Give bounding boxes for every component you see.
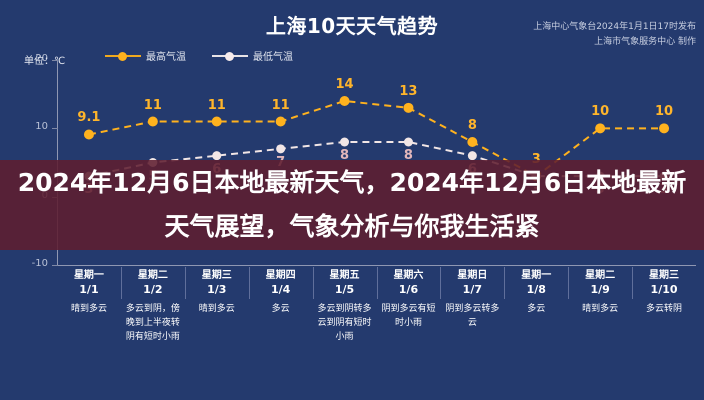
weather-description: 阴到多云有短时小雨 (377, 302, 441, 330)
weather-description: 多云 (249, 302, 313, 316)
forecast-day-column[interactable]: 星期三1/10多云转阴 (632, 265, 696, 400)
forecast-day-column[interactable]: 星期四1/4多云 (249, 265, 313, 400)
weekday-label: 星期六 (377, 269, 441, 282)
overlay-banner: 2024年12月6日本地最新天气，2024年12月6日本地最新天气展望，气象分析… (0, 160, 704, 250)
forecast-day-column[interactable]: 星期日1/7阴到多云转多云 (440, 265, 504, 400)
column-divider (632, 267, 633, 299)
weather-description: 多云转阴 (632, 302, 696, 316)
weekday-label: 星期五 (313, 269, 377, 282)
issuer-info: 上海中心气象台2024年1月1日17时发布 上海市气象服务中心 制作 (466, 20, 696, 50)
low-temp-point (212, 151, 221, 160)
y-axis-tick-label: 10 (20, 121, 48, 132)
legend: 最高气温 最低气温 (105, 48, 293, 63)
high-temp-point (659, 123, 669, 133)
column-divider (121, 267, 122, 299)
weekday-label: 星期二 (568, 269, 632, 282)
date-label: 1/1 (57, 282, 121, 297)
weekday-label: 星期三 (185, 269, 249, 282)
high-temp-point (340, 96, 350, 106)
circle-marker-icon (212, 51, 248, 61)
date-label: 1/2 (121, 282, 185, 297)
date-label: 1/9 (568, 282, 632, 297)
date-label: 1/4 (249, 282, 313, 297)
overlay-banner-text: 2024年12月6日本地最新天气，2024年12月6日本地最新天气展望，气象分析… (0, 161, 704, 249)
high-temp-label: 11 (272, 98, 290, 113)
high-temp-label: 14 (336, 77, 354, 92)
forecast-day-column[interactable]: 星期一1/1晴到多云 (57, 265, 121, 400)
weather-description: 多云 (504, 302, 568, 316)
weather-description: 多云到阴，傍晚到上半夜转阴有短时小雨 (121, 302, 185, 344)
forecast-day-column[interactable]: 星期二1/2多云到阴，傍晚到上半夜转阴有短时小雨 (121, 265, 185, 400)
low-temp-point (340, 138, 349, 147)
low-temp-point (404, 138, 413, 147)
high-temp-label: 11 (208, 98, 226, 113)
weekday-label: 星期一 (57, 269, 121, 282)
low-temp-point (468, 151, 477, 160)
date-label: 1/7 (440, 282, 504, 297)
high-temp-point (84, 129, 94, 139)
date-label: 1/8 (504, 282, 568, 297)
weekday-label: 星期四 (249, 269, 313, 282)
date-label: 1/6 (377, 282, 441, 297)
high-temp-point (467, 137, 477, 147)
high-temp-point (212, 117, 222, 127)
weather-description: 晴到多云 (185, 302, 249, 316)
date-label: 1/10 (632, 282, 696, 297)
column-divider (504, 267, 505, 299)
low-temp-point (276, 144, 285, 153)
high-temp-point (276, 117, 286, 127)
high-temp-label: 9.1 (77, 110, 100, 125)
weather-description: 多云到阴转多云到阴有短时小雨 (313, 302, 377, 344)
legend-item-high: 最高气温 (105, 48, 186, 63)
legend-item-low: 最低气温 (212, 48, 293, 63)
forecast-day-column[interactable]: 星期三1/3晴到多云 (185, 265, 249, 400)
forecast-table: 星期一1/1晴到多云星期二1/2多云到阴，傍晚到上半夜转阴有短时小雨星期三1/3… (0, 265, 704, 400)
legend-label-high: 最高气温 (146, 48, 186, 63)
diamond-marker-icon (105, 51, 141, 61)
column-divider (377, 267, 378, 299)
y-axis-tick (52, 128, 58, 129)
high-temp-label: 10 (591, 104, 609, 119)
high-temp-point (595, 123, 605, 133)
high-temp-point (148, 117, 158, 127)
forecast-day-column[interactable]: 星期二1/9晴到多云 (568, 265, 632, 400)
issuer-line-1: 上海中心气象台2024年1月1日17时发布 (466, 20, 696, 35)
column-divider (249, 267, 250, 299)
issuer-line-2: 上海市气象服务中心 制作 (466, 35, 696, 50)
column-divider (313, 267, 314, 299)
legend-label-low: 最低气温 (253, 48, 293, 63)
weather-description: 阴到多云转多云 (440, 302, 504, 330)
forecast-day-column[interactable]: 星期一1/8多云 (504, 265, 568, 400)
high-temp-label: 8 (468, 118, 477, 133)
weather-trend-chart: 上海10天天气趋势 上海中心气象台2024年1月1日17时发布 上海市气象服务中… (0, 0, 704, 400)
forecast-day-column[interactable]: 星期五1/5多云到阴转多云到阴有短时小雨 (313, 265, 377, 400)
forecast-day-column[interactable]: 星期六1/6阴到多云有短时小雨 (377, 265, 441, 400)
weather-description: 晴到多云 (57, 302, 121, 316)
column-divider (185, 267, 186, 299)
high-temp-point (403, 103, 413, 113)
column-divider (440, 267, 441, 299)
column-divider (568, 267, 569, 299)
date-label: 1/3 (185, 282, 249, 297)
weekday-label: 星期一 (504, 269, 568, 282)
weekday-label: 星期二 (121, 269, 185, 282)
high-temp-label: 11 (144, 98, 162, 113)
date-label: 1/5 (313, 282, 377, 297)
high-temp-label: 13 (399, 84, 417, 99)
high-temp-label: 10 (655, 104, 673, 119)
unit-label: 单位：℃ (24, 52, 65, 67)
weekday-label: 星期日 (440, 269, 504, 282)
weather-description: 晴到多云 (568, 302, 632, 316)
weekday-label: 星期三 (632, 269, 696, 282)
